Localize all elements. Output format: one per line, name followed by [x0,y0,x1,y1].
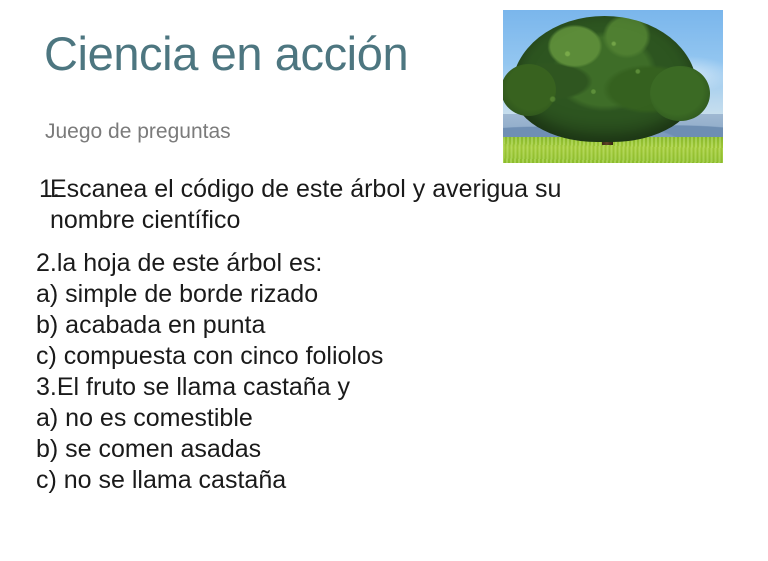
page-title: Ciencia en acción [44,29,408,80]
question-3-stem: 3.El fruto se llama castaña y [36,372,696,403]
question-item-1: 1. Escanea el código de este árbol y ave… [36,174,696,236]
question-1-line-2: nombre científico [50,205,696,236]
question-3-stem-text: El fruto se llama castaña y [57,373,350,401]
question-item-3: 3.El fruto se llama castaña y a) no es c… [36,372,696,496]
question-2-option-a: a) simple de borde rizado [36,279,696,310]
question-3-option-c: c) no se llama castaña [36,465,696,496]
question-1-line-1: Escanea el código de este árbol y averig… [50,174,696,205]
question-2-marker: 2. [36,249,57,277]
question-2-option-c: c) compuesta con cinco foliolos [36,341,696,372]
question-3-option-b: b) se comen asadas [36,434,696,465]
question-2-option-b: b) acabada en punta [36,310,696,341]
question-2-stem-text: la hoja de este árbol es: [57,249,322,277]
question-1-marker: 1. [39,174,60,205]
question-3-option-a: a) no es comestible [36,403,696,434]
question-list: 1. Escanea el código de este árbol y ave… [36,174,696,496]
slide-subtitle: Juego de preguntas [45,120,231,143]
question-item-2: 2.la hoja de este árbol es: a) simple de… [36,248,696,372]
slide: Ciencia en acción Juego de preguntas 1. … [0,0,768,561]
question-3-marker: 3. [36,373,57,401]
question-2-stem: 2.la hoja de este árbol es: [36,248,696,279]
tree-photo [503,10,723,163]
